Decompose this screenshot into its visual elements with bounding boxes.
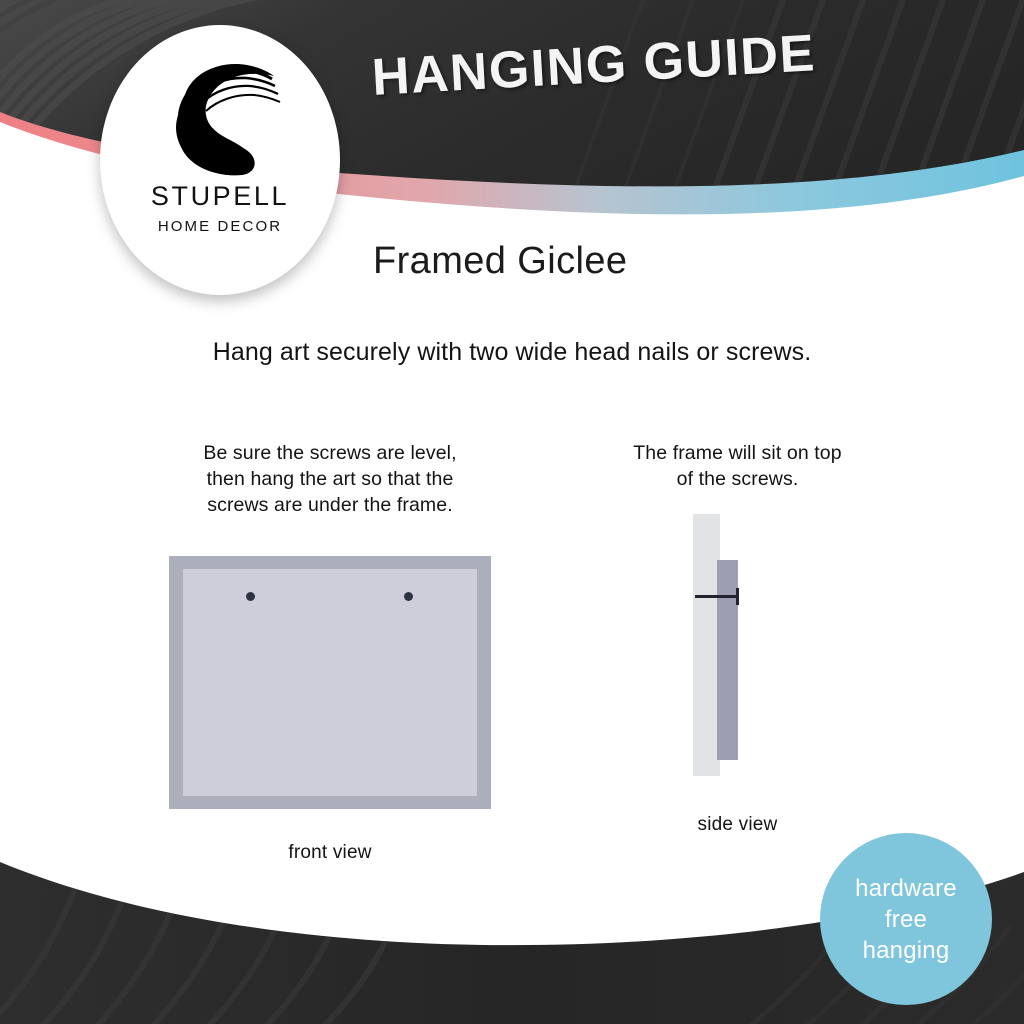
front-caption-line-2: then hang the art so that the: [110, 466, 550, 492]
frame-mat: [183, 569, 477, 796]
hardware-free-hanging-badge: hardware free hanging: [820, 833, 992, 1005]
screw-head-icon: [736, 588, 739, 605]
hanging-guide-page: STUPELL HOME DECOR HANGING GUIDE Framed …: [0, 0, 1024, 1024]
main-instruction-text: Hang art securely with two wide head nai…: [0, 338, 1024, 367]
front-view-caption: Be sure the screws are level, then hang …: [110, 440, 550, 518]
diagram-section: Be sure the screws are level, then hang …: [0, 440, 1024, 880]
side-caption-line-1: The frame will sit on top: [560, 440, 915, 466]
product-type-label: Framed Giclee: [373, 240, 627, 283]
side-view-caption: The frame will sit on top of the screws.: [560, 440, 915, 492]
screw-dot-left: [246, 592, 255, 601]
logo-brand-name: STUPELL: [151, 183, 289, 210]
brand-logo-badge: STUPELL HOME DECOR: [100, 25, 340, 295]
frame-profile: [717, 560, 738, 760]
badge-line-3: hanging: [863, 935, 950, 966]
badge-line-1: hardware: [855, 873, 957, 904]
badge-line-2: free: [885, 904, 927, 935]
stupell-swoosh-icon: [154, 55, 286, 177]
side-view-diagram: The frame will sit on top of the screws.…: [560, 440, 915, 836]
front-caption-line-1: Be sure the screws are level,: [110, 440, 550, 466]
front-frame-illustration: [169, 556, 491, 809]
side-frame-illustration: [673, 508, 803, 788]
logo-tagline: HOME DECOR: [158, 219, 282, 234]
screw-shaft-icon: [695, 595, 738, 598]
wall-profile: [693, 514, 720, 776]
side-view-label: side view: [560, 814, 915, 836]
front-caption-line-3: screws are under the frame.: [110, 492, 550, 518]
front-view-diagram: Be sure the screws are level, then hang …: [110, 440, 550, 864]
side-caption-line-2: of the screws.: [560, 466, 915, 492]
screw-dot-right: [404, 592, 413, 601]
